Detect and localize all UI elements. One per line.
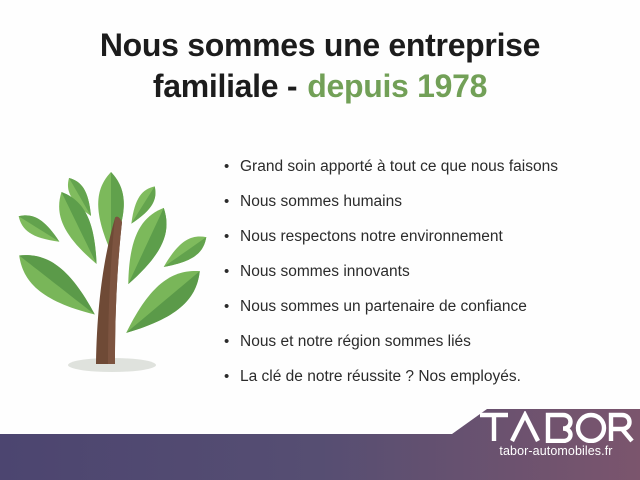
list-item-label: Nous sommes humains [240,193,624,211]
list-item: • Nous et notre région sommes liés [224,324,624,359]
bullet-list: • Grand soin apporté à tout ce que nous … [224,149,624,394]
list-item-label: Nous sommes un partenaire de confiance [240,298,624,316]
list-item: • Nous sommes humains [224,184,624,219]
bullet-marker-icon: • [224,194,240,209]
list-item-label: Nous respectons notre environnement [240,228,624,246]
leaf-far-left-small [14,209,63,248]
slide-canvas: Nous sommes une entreprise familiale -de… [0,0,640,480]
page-title: Nous sommes une entreprise familiale -de… [0,26,640,106]
list-item-label: La clé de notre réussite ? Nos employés. [240,368,624,386]
page-title-line-2: familiale -depuis 1978 [0,67,640,106]
list-item: • La clé de notre réussite ? Nos employé… [224,359,624,394]
list-item-label: Nous et notre région sommes liés [240,333,624,351]
bullet-marker-icon: • [224,159,240,174]
bullet-marker-icon: • [224,334,240,349]
list-item-label: Nous sommes innovants [240,263,624,281]
footer-bar [0,404,640,480]
list-item-label: Grand soin apporté à tout ce que nous fa… [240,158,624,176]
bullet-marker-icon: • [224,299,240,314]
list-item: • Grand soin apporté à tout ce que nous … [224,149,624,184]
bullet-marker-icon: • [224,264,240,279]
list-item: • Nous respectons notre environnement [224,219,624,254]
page-title-line-1: Nous sommes une entreprise [100,27,540,63]
bullet-marker-icon: • [224,369,240,384]
leaf-far-right-small [159,230,212,275]
footer-bar-shape [0,409,640,480]
list-item: • Nous sommes innovants [224,254,624,289]
page-title-line-2-text: familiale - [153,68,297,104]
leaf-right-upper [116,202,176,290]
tree-illustration [12,152,212,382]
list-item: • Nous sommes un partenaire de confiance [224,289,624,324]
page-title-accent: depuis 1978 [307,68,487,104]
bullet-marker-icon: • [224,229,240,244]
